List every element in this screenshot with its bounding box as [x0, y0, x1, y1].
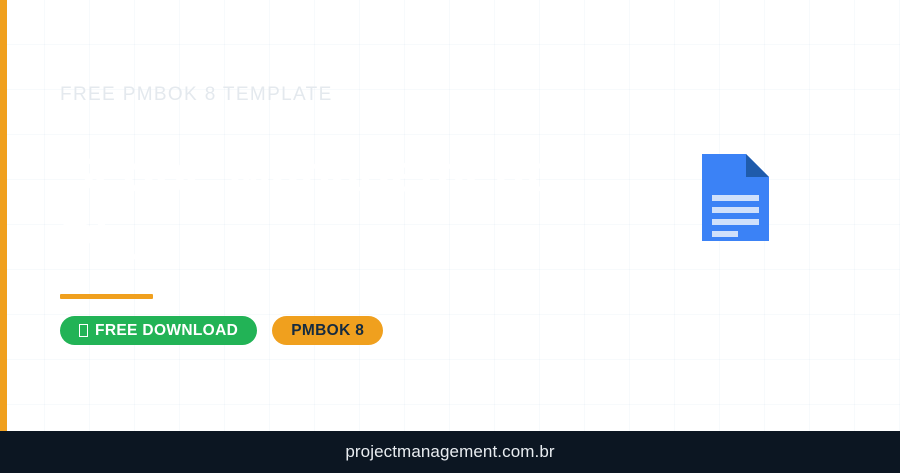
download-icon — [79, 324, 88, 337]
free-download-badge[interactable]: FREE DOWNLOAD — [60, 316, 257, 345]
banner-content: FREE PMBOK 8 TEMPLATE Scope Management P… — [60, 0, 680, 431]
page-title-line-1: Scope Management — [60, 145, 542, 203]
promo-banner: FREE PMBOK 8 TEMPLATE Scope Management P… — [0, 0, 900, 473]
badge-group: FREE DOWNLOAD PMBOK 8 — [60, 316, 383, 345]
footer-bar: projectmanagement.com.br — [0, 431, 900, 473]
page-title-line-2: Plan — [60, 213, 168, 271]
left-accent-stripe — [0, 0, 7, 431]
eyebrow-label: FREE PMBOK 8 TEMPLATE — [60, 84, 333, 106]
orange-divider — [60, 294, 153, 299]
pmbok-version-badge-label: PMBOK 8 — [291, 322, 364, 340]
pmbok-version-badge[interactable]: PMBOK 8 — [272, 316, 383, 345]
document-icon — [702, 154, 769, 241]
footer-website-url: projectmanagement.com.br — [345, 442, 554, 462]
free-download-badge-label: FREE DOWNLOAD — [95, 322, 238, 340]
page-title: Scope Management Plan — [60, 140, 660, 276]
